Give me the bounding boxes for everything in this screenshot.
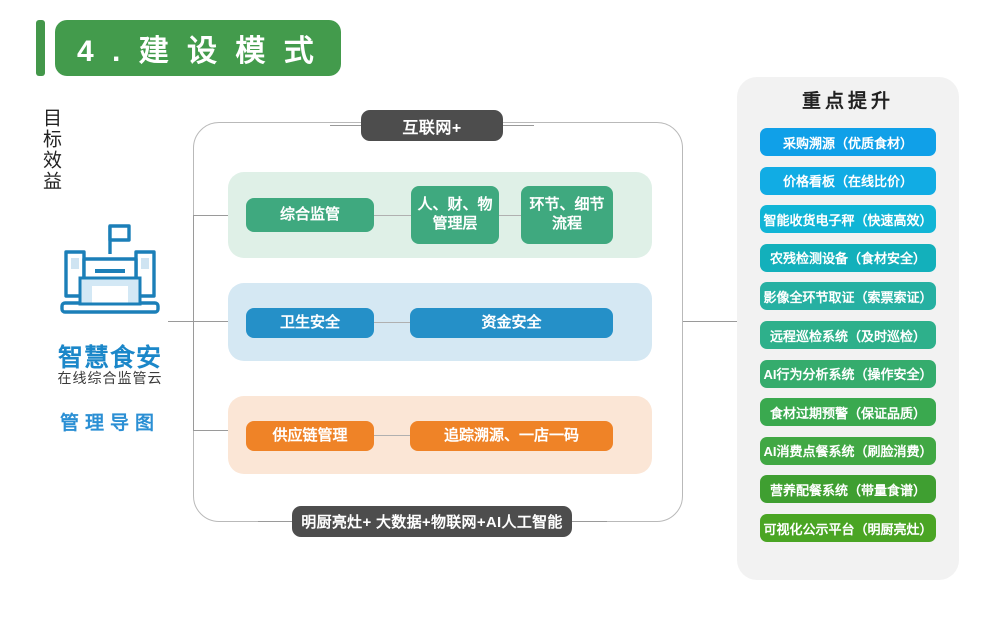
chip-connector-orange-1	[374, 435, 411, 436]
chip-process-details[interactable]: 环节、细节 流程	[521, 186, 613, 244]
chip-supply-chain-management[interactable]: 供应链管理	[246, 421, 374, 451]
chip-comprehensive-supervision[interactable]: 综合监管	[246, 198, 374, 232]
infographic-canvas: 4 . 建 设 模 式 目标效益	[0, 0, 1000, 619]
key-improvement-item-2[interactable]: 价格看板（在线比价）	[760, 167, 936, 195]
brand-map-label: 管理导图	[20, 408, 200, 435]
top-badge-rail-right	[502, 125, 534, 126]
chip-hygiene-safety[interactable]: 卫生安全	[246, 308, 374, 338]
key-improvement-item-1[interactable]: 采购溯源（优质食材）	[760, 128, 936, 156]
header-accent-bar	[36, 20, 45, 76]
bottom-badge: 明厨亮灶+ 大数据+物联网+AI人工智能	[292, 506, 572, 537]
key-improvement-item-10[interactable]: 营养配餐系统（带量食谱）	[760, 475, 936, 503]
bottom-badge-rail-right	[571, 521, 607, 522]
chip-traceability-one-shop-one-code[interactable]: 追踪溯源、一店一码	[410, 421, 613, 451]
brand-subtitle: 在线综合监管云	[20, 368, 200, 388]
chip-connector-green-1	[374, 215, 412, 216]
connector-left-main	[168, 321, 228, 322]
chip-people-finance-materials[interactable]: 人、财、物 管理层	[411, 186, 499, 244]
top-badge: 互联网+	[361, 110, 503, 141]
bottom-badge-rail-left	[258, 521, 294, 522]
key-improvement-item-9[interactable]: AI消费点餐系统（刷脸消费）	[760, 437, 936, 465]
key-improvement-item-4[interactable]: 农残检测设备（食材安全）	[760, 244, 936, 272]
chip-fund-safety[interactable]: 资金安全	[410, 308, 613, 338]
chip-connector-green-2	[499, 215, 522, 216]
top-badge-rail-left	[330, 125, 362, 126]
connector-main-right	[683, 321, 737, 322]
key-improvement-item-11[interactable]: 可视化公示平台（明厨亮灶）	[760, 514, 936, 542]
key-improvement-item-3[interactable]: 智能收货电子秤（快速高效）	[760, 205, 936, 233]
chip-connector-blue-1	[374, 322, 411, 323]
page-title: 4 . 建 设 模 式	[77, 26, 319, 70]
section-title-pill: 4 . 建 设 模 式	[55, 20, 341, 76]
government-building-icon	[56, 218, 164, 322]
connector-left-spine	[193, 215, 194, 430]
goal-benefit-label: 目标效益	[36, 108, 62, 192]
key-improvement-item-5[interactable]: 影像全环节取证（索票索证）	[760, 282, 936, 310]
bottom-badge-label: 明厨亮灶+ 大数据+物联网+AI人工智能	[301, 511, 562, 532]
key-improvement-item-8[interactable]: 食材过期预警（保证品质）	[760, 398, 936, 426]
top-badge-label: 互联网+	[402, 114, 461, 138]
key-improvement-item-7[interactable]: AI行为分析系统（操作安全）	[760, 360, 936, 388]
key-improvements-title: 重点提升	[737, 86, 959, 113]
key-improvement-item-6[interactable]: 远程巡检系统（及时巡检）	[760, 321, 936, 349]
